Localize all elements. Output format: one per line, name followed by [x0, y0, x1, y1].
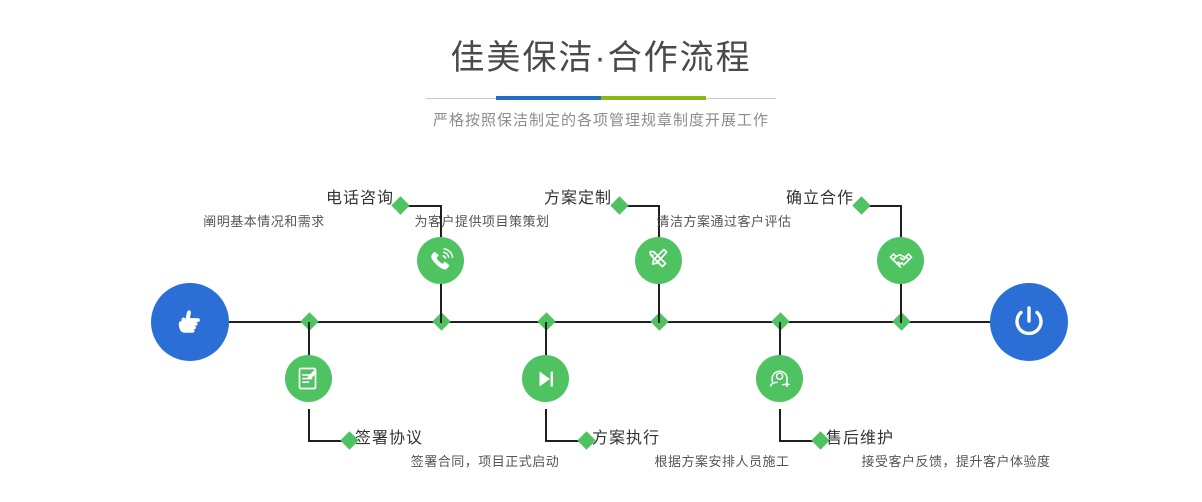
pencil-ruler-icon: [645, 247, 672, 274]
step-6-node: [756, 355, 803, 402]
step-6-title: 售后维护: [826, 428, 1086, 450]
step-1-stem-lower: [440, 283, 442, 323]
title-divider: [426, 96, 776, 100]
step-4-node: [522, 355, 569, 402]
step-6-stem-lower: [779, 409, 781, 441]
handshake-icon: [887, 247, 915, 275]
power-icon: [1006, 299, 1052, 345]
headset-agent-add-icon: [766, 365, 793, 392]
pointing-hand-icon: [168, 300, 212, 344]
step-4-desc: 根据方案安排人员施工: [592, 452, 852, 472]
divider-blue-segment: [496, 96, 601, 100]
step-5-stem-lower: [900, 283, 902, 323]
step-3-title: 方案定制: [352, 188, 612, 210]
step-5-node: [877, 237, 924, 284]
step-3-node: [635, 237, 682, 284]
step-2-desc: 签署合同，项目正式启动: [355, 452, 615, 472]
step-2-label: 签署协议 签署合同，项目正式启动: [355, 428, 615, 472]
divider-green-segment: [601, 96, 706, 100]
step-1-node: [417, 237, 464, 284]
step-3-stem-lower: [658, 283, 660, 323]
step-6-label: 售后维护 接受客户反馈，提升客户体验度: [826, 428, 1086, 472]
step-2-stem-lower: [308, 409, 310, 441]
page-subtitle: 严格按照保洁制定的各项管理规章制度开展工作: [0, 111, 1202, 131]
page-title: 佳美保洁·合作流程: [0, 38, 1202, 78]
end-endpoint: [990, 283, 1068, 361]
step-5-desc: 清洁方案通过客户评估: [594, 212, 854, 232]
step-5-label: 确立合作 清洁方案通过客户评估: [594, 188, 854, 232]
step-4-stem-lower: [545, 409, 547, 441]
step-5-stem-upper: [900, 205, 902, 237]
step-5-title: 确立合作: [594, 188, 854, 210]
document-edit-icon: [295, 365, 322, 392]
cooperation-process-infographic: 佳美保洁·合作流程 严格按照保洁制定的各项管理规章制度开展工作: [0, 0, 1202, 502]
step-2-node: [285, 355, 332, 402]
step-2-title: 签署协议: [355, 428, 615, 450]
play-forward-icon: [533, 366, 559, 392]
step-3-desc: 为客户提供项目策策划: [352, 212, 612, 232]
step-4-label: 方案执行 根据方案安排人员施工: [592, 428, 852, 472]
step-3-label: 方案定制 为客户提供项目策策划: [352, 188, 612, 232]
phone-call-icon: [427, 247, 455, 275]
step-5-label-diamond: [852, 196, 870, 214]
step-6-desc: 接受客户反馈，提升客户体验度: [826, 452, 1086, 472]
start-endpoint: [151, 283, 229, 361]
header: 佳美保洁·合作流程 严格按照保洁制定的各项管理规章制度开展工作: [0, 0, 1202, 131]
